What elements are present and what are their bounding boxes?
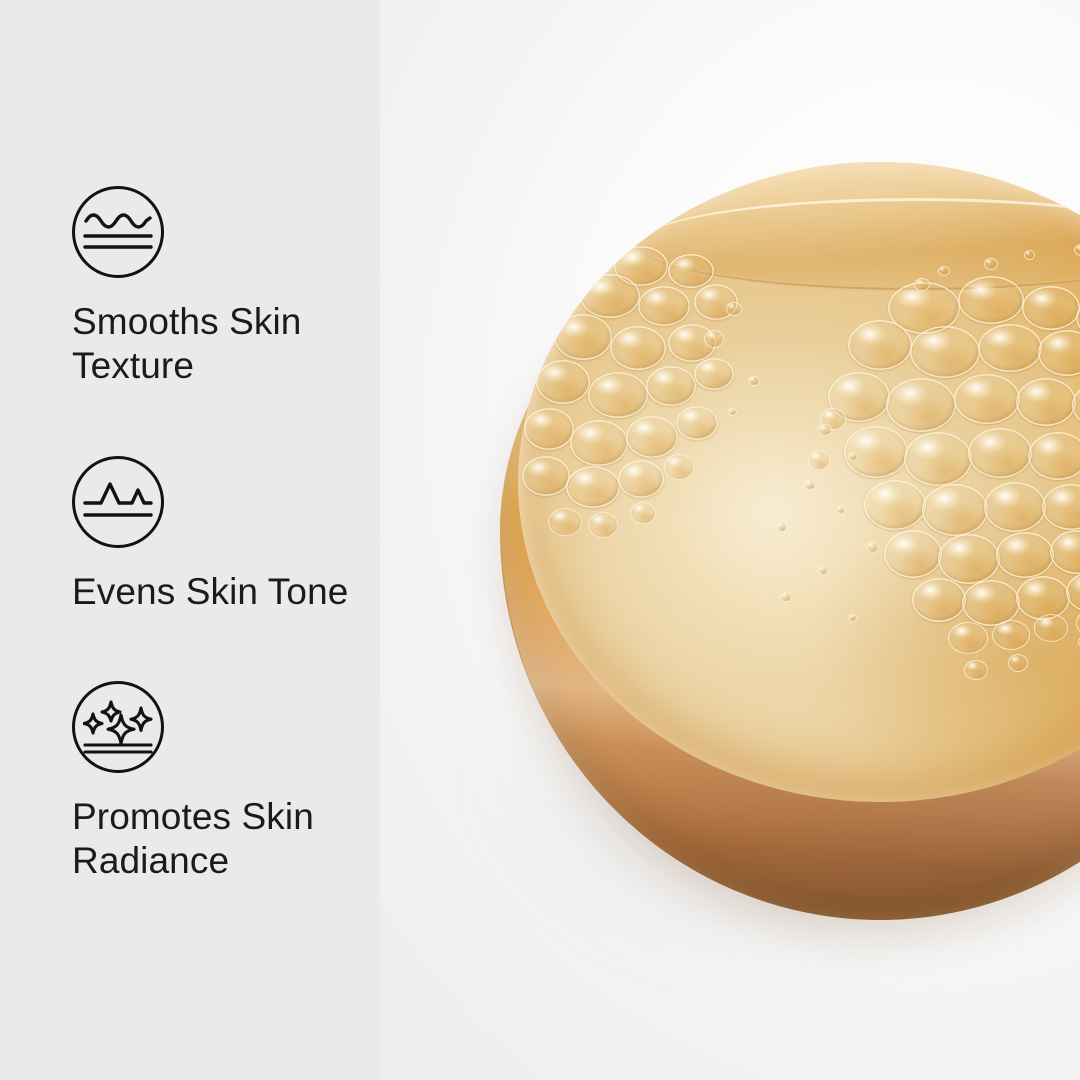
benefit-label: Smooths Skin Texture bbox=[72, 300, 402, 389]
petri-dish bbox=[500, 140, 1080, 930]
benefit-item-evens-skin-tone: Evens Skin Tone bbox=[72, 456, 402, 614]
benefit-item-promotes-skin-radiance: Promotes Skin Radiance bbox=[72, 681, 402, 884]
peak-line-icon bbox=[72, 456, 164, 548]
benefit-label: Evens Skin Tone bbox=[72, 570, 402, 614]
infographic-canvas: Smooths Skin Texture Evens Skin Tone bbox=[0, 0, 1080, 1080]
benefits-list: Smooths Skin Texture Evens Skin Tone bbox=[0, 0, 400, 1080]
bubble-scatter bbox=[518, 162, 1080, 802]
benefit-item-smooths-skin-texture: Smooths Skin Texture bbox=[72, 186, 402, 389]
product-photo bbox=[380, 0, 1080, 1080]
serum-surface bbox=[518, 162, 1080, 802]
sparkles-icon bbox=[72, 681, 164, 773]
benefit-label: Promotes Skin Radiance bbox=[72, 795, 402, 884]
wavy-lines-icon bbox=[72, 186, 164, 278]
